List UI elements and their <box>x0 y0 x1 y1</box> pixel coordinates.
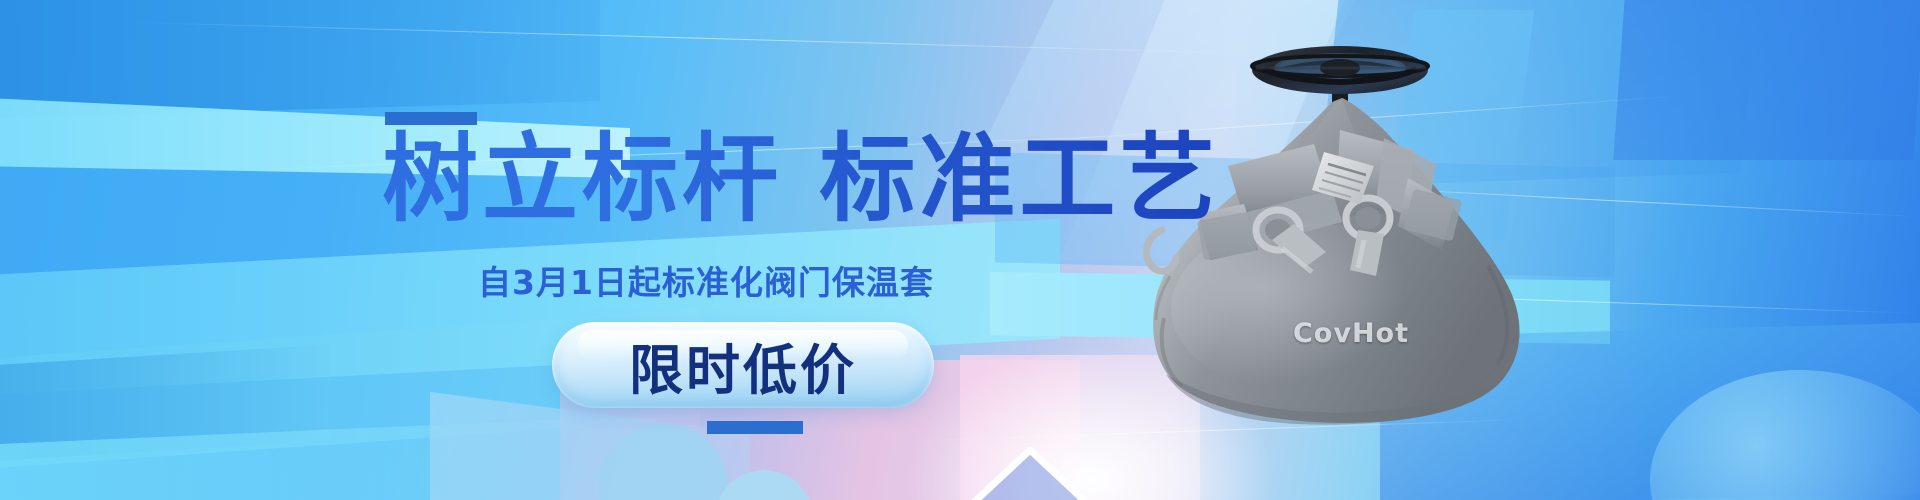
banner-content: 树立标杆 标准工艺 自3月1日起标准化阀门保温套 限时低价 <box>0 0 1920 500</box>
banner-subtitle: 自3月1日起标准化阀门保温套 <box>478 256 934 304</box>
promo-banner: CovHot 树立标杆 标准工艺 自3月1日起标准化阀门保温套 限时低价 <box>0 0 1920 500</box>
banner-headline: 树立标杆 标准工艺 <box>382 126 1219 234</box>
cta-button-limited-time-price[interactable]: 限时低价 <box>552 322 934 408</box>
cta-underline-bar <box>707 421 803 434</box>
cta-button-label: 限时低价 <box>629 326 857 405</box>
